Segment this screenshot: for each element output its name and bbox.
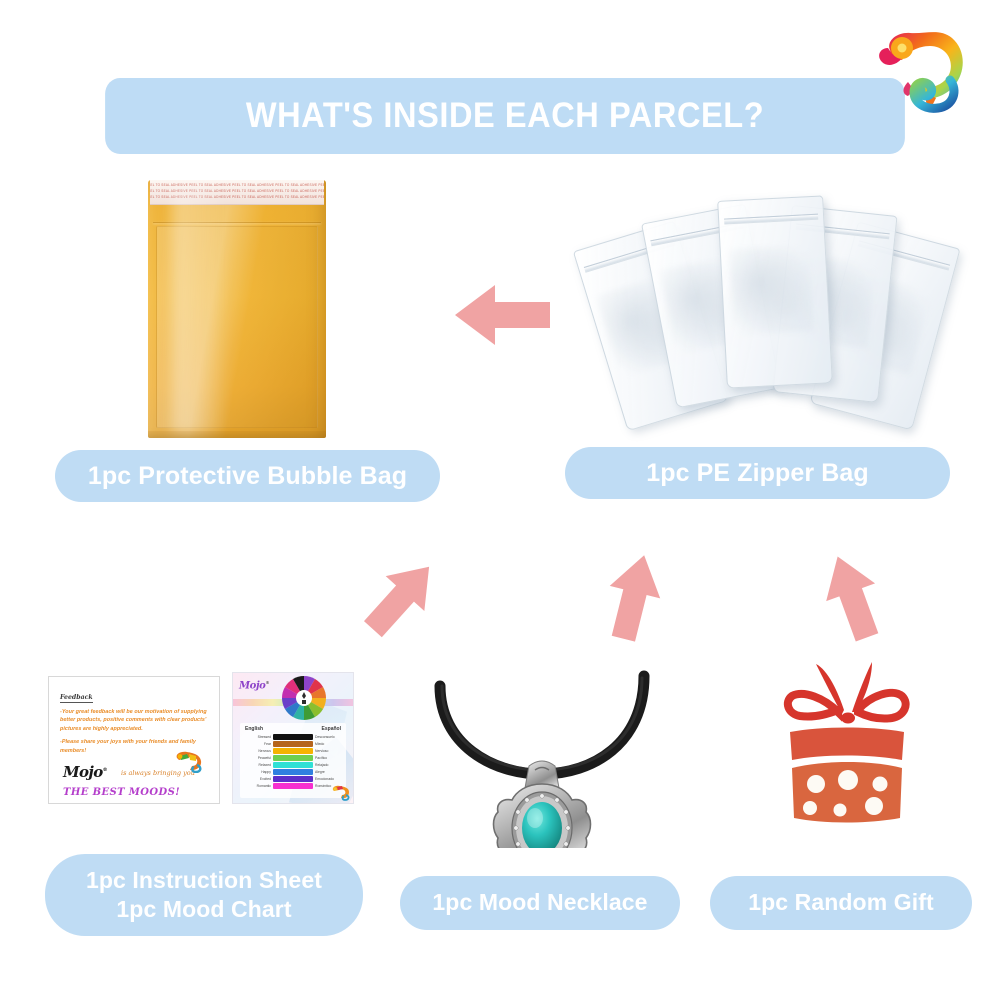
mailer-bottom-edge	[148, 431, 326, 438]
mood-english-label: Happy	[245, 770, 271, 774]
arrow-gift-up-icon	[806, 548, 898, 644]
mood-chart-row: RelaxedRelajado	[245, 762, 341, 768]
mood-color-swatch	[273, 783, 313, 789]
mood-chart-image: Mojo® English Español StressedDesconsuel…	[232, 672, 354, 804]
mood-chart-table-header: English Español	[245, 726, 341, 732]
label-protective-bubble-bag: 1pc Protective Bubble Bag	[55, 450, 440, 502]
mood-color-swatch	[273, 734, 313, 740]
mailer-highlight	[173, 190, 226, 433]
arrow-necklace-up-icon	[588, 548, 680, 644]
feedback-paragraph-1: -Your great feedback will be our motivat…	[60, 708, 210, 733]
mood-chart-row: StressedDesconsuelo	[245, 734, 341, 740]
mood-spanish-label: Relajado	[315, 763, 341, 767]
mood-chart-brand: Mojo®	[239, 680, 269, 691]
mood-chart-col-spanish: Español	[322, 726, 341, 732]
page-title: WHAT'S INSIDE EACH PARCEL?	[246, 94, 764, 139]
mood-english-label: Relaxed	[245, 763, 271, 767]
mood-color-wheel-icon	[281, 675, 327, 721]
mood-spanish-label: Alegre	[315, 770, 341, 774]
label-text: 1pc Random Gift	[748, 888, 934, 917]
label-instruction-sheet-and-mood-chart: 1pc Instruction Sheet 1pc Mood Chart	[45, 854, 363, 936]
mood-english-label: Stressed	[245, 735, 271, 739]
sheet-registered-mark: ®	[103, 767, 107, 773]
mood-chart-row: RomanticRomántico	[245, 783, 341, 789]
mojo-chameleon-logo	[862, 8, 982, 116]
mood-english-label: Excited	[245, 777, 271, 781]
label-random-gift: 1pc Random Gift	[710, 876, 972, 930]
mood-color-swatch	[273, 776, 313, 782]
gift-box-icon	[776, 652, 916, 842]
label-text-line2: 1pc Mood Chart	[116, 895, 291, 924]
sheet-moods-line: THE BEST MOODS!	[63, 787, 180, 798]
mood-spanish-label: Desconsuelo	[315, 735, 341, 739]
label-text: 1pc Mood Necklace	[432, 888, 647, 917]
mood-color-swatch	[273, 755, 313, 761]
pe-zipper-bags-image	[596, 188, 926, 428]
mood-chart-chameleon-icon	[329, 782, 351, 801]
label-text: 1pc Protective Bubble Bag	[88, 460, 407, 492]
mood-spanish-label: Nervioso	[315, 749, 341, 753]
mood-chart-row: HappyAlegre	[245, 769, 341, 775]
feedback-heading: Feedback	[60, 694, 93, 703]
arrow-instruction-up-icon	[355, 552, 447, 644]
sheet-brand-text: Mojo	[63, 763, 103, 781]
mood-chart-row: NervousNervioso	[245, 748, 341, 754]
mood-color-swatch	[273, 769, 313, 775]
instruction-sheet-image: Feedback -Your great feedback will be ou…	[48, 676, 220, 804]
label-text-line1: 1pc Instruction Sheet	[86, 866, 322, 895]
mood-necklace-image	[432, 648, 652, 848]
mood-chart-col-english: English	[245, 726, 263, 732]
arrow-to-bubble-bag-icon	[455, 275, 550, 355]
label-mood-necklace: 1pc Mood Necklace	[400, 876, 680, 930]
mood-color-swatch	[273, 741, 313, 747]
mood-english-label: Peaceful	[245, 756, 271, 760]
sheet-chameleon-icon	[171, 747, 205, 773]
mood-english-label: Nervous	[245, 749, 271, 753]
mood-spanish-label: Miedo	[315, 742, 341, 746]
kraft-bubble-mailer-image: PEEL TO SEAL ADHESIVE PEEL TO SEAL ADHES…	[148, 180, 326, 438]
label-text: 1pc PE Zipper Bag	[646, 457, 869, 489]
zipper-bag-item	[717, 195, 833, 388]
mood-color-swatch	[273, 748, 313, 754]
mood-english-label: Fear	[245, 742, 271, 746]
sheet-brand-name: Mojo®	[63, 763, 107, 781]
mood-chart-row: ExcitedEmocionado	[245, 776, 341, 782]
mood-color-swatch	[273, 762, 313, 768]
mood-chart-rows: StressedDesconsueloFearMiedoNervousNervi…	[245, 734, 341, 789]
mood-chart-row: FearMiedo	[245, 741, 341, 747]
mood-chart-row: PeacefulPacífico	[245, 755, 341, 761]
mood-chart-brand-text: Mojo	[239, 680, 265, 691]
label-pe-zipper-bag: 1pc PE Zipper Bag	[565, 447, 950, 499]
mood-chart-registered-mark: ®	[265, 680, 269, 685]
mood-english-label: Romantic	[245, 784, 271, 788]
page-title-banner: WHAT'S INSIDE EACH PARCEL?	[105, 78, 905, 154]
mood-spanish-label: Pacífico	[315, 756, 341, 760]
mood-spanish-label: Emocionado	[315, 777, 341, 781]
